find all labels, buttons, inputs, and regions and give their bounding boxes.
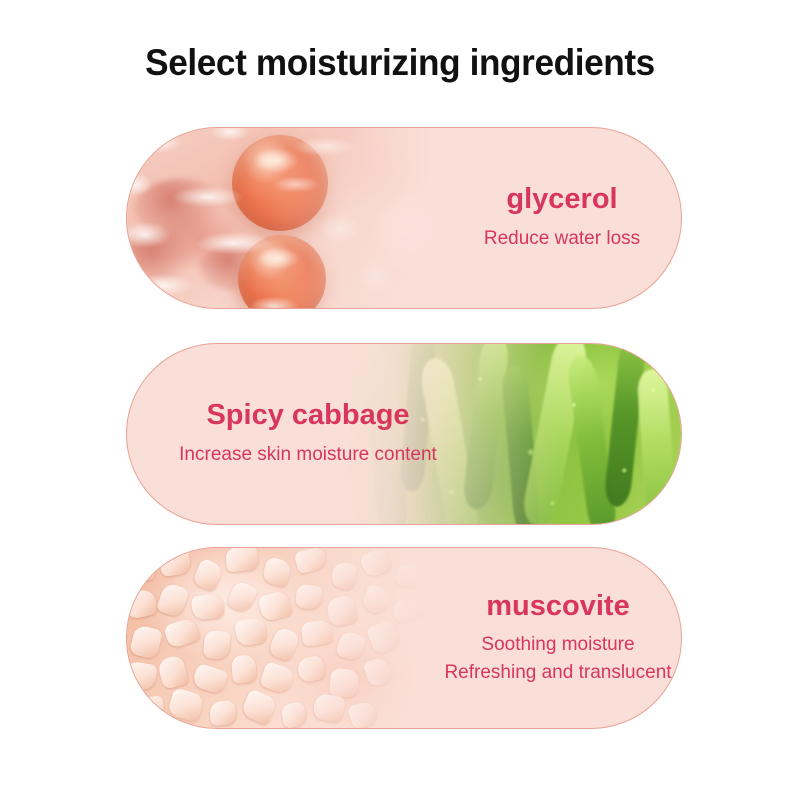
card-media-glycerol	[126, 127, 466, 309]
card-heading: glycerol	[506, 185, 617, 214]
card-subtitle: Increase skin moisture content	[179, 441, 437, 469]
card-subtitle: Refreshing and translucent	[444, 659, 671, 687]
card-heading: muscovite	[486, 592, 629, 621]
media-fade-mask	[126, 547, 466, 729]
ingredient-card-spicy-cabbage[interactable]: Spicy cabbage Increase skin moisture con…	[126, 343, 682, 525]
ingredient-card-glycerol[interactable]: glycerol Reduce water loss	[126, 127, 682, 309]
ingredient-infographic-page: Select moisturizing ingredients glycerol…	[0, 0, 800, 800]
page-title: Select moisturizing ingredients	[20, 42, 780, 84]
card-media-muscovite	[126, 547, 466, 729]
media-fade-mask	[126, 127, 466, 309]
ingredient-card-muscovite[interactable]: muscovite Soothing moisture Refreshing a…	[126, 547, 682, 729]
card-subtitle: Reduce water loss	[484, 225, 640, 253]
card-text-muscovite: muscovite Soothing moisture Refreshing a…	[427, 548, 682, 729]
card-text-glycerol: glycerol Reduce water loss	[441, 128, 682, 309]
card-heading: Spicy cabbage	[206, 401, 409, 430]
card-subtitle: Soothing moisture	[481, 631, 634, 659]
card-text-spicy-cabbage: Spicy cabbage Increase skin moisture con…	[143, 344, 473, 525]
